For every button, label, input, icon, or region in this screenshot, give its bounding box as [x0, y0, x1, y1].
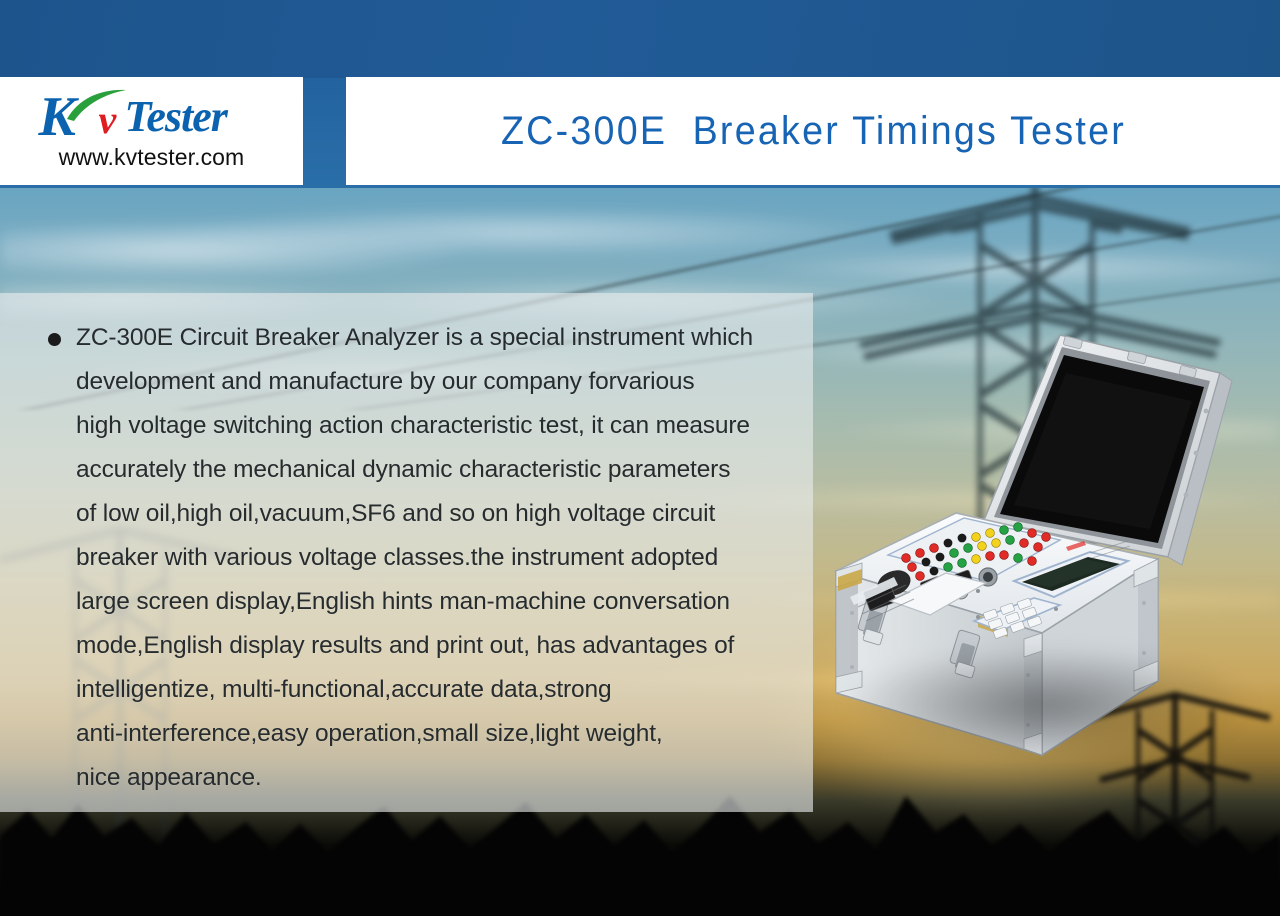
brand-logo-box[interactable]: K v Tester www.kvtester.com [0, 77, 303, 185]
logo-website-url[interactable]: www.kvtester.com [59, 144, 245, 171]
logo-swoosh-icon [65, 88, 129, 122]
logo-letter-v: v [99, 100, 117, 140]
logo-word-tester: Tester [125, 95, 227, 139]
slide-root: K v Tester www.kvtester.com ZC-300E Brea… [0, 0, 1280, 916]
bullet-point-icon [48, 333, 61, 346]
logo-mark: K v Tester [37, 91, 267, 143]
header-bar [0, 0, 1280, 78]
page-title: ZC-300E Breaker Timings Tester [500, 109, 1125, 154]
product-shadow [838, 645, 1258, 765]
title-box: ZC-300E Breaker Timings Tester [346, 77, 1280, 185]
product-image [828, 315, 1280, 785]
